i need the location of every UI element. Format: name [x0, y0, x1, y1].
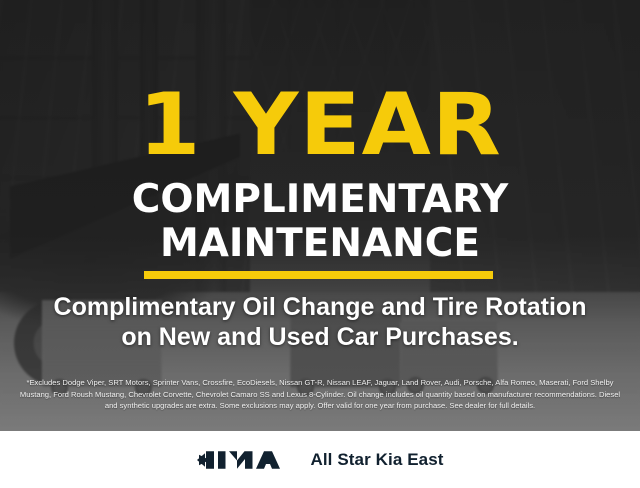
kia-logo-icon — [196, 447, 292, 473]
offer-line-1: Complimentary Oil Change and Tire Rotati… — [0, 292, 640, 322]
yellow-divider-bar — [144, 271, 493, 279]
banner-content: 1 YEAR COMPLIMENTARY MAINTENANCE Complim… — [0, 0, 640, 431]
headline-year: 1 YEAR — [0, 82, 640, 168]
promo-banner: 1 YEAR COMPLIMENTARY MAINTENANCE Complim… — [0, 0, 640, 488]
dealer-name: All Star Kia East — [310, 450, 443, 470]
brand-footer: All Star Kia East — [0, 431, 640, 488]
offer-line-2: on New and Used Car Purchases. — [0, 322, 640, 352]
headline-maintenance: MAINTENANCE — [0, 224, 640, 263]
disclaimer-text: *Excludes Dodge Viper, SRT Motors, Sprin… — [14, 377, 626, 412]
headline-complimentary: COMPLIMENTARY — [0, 180, 640, 219]
